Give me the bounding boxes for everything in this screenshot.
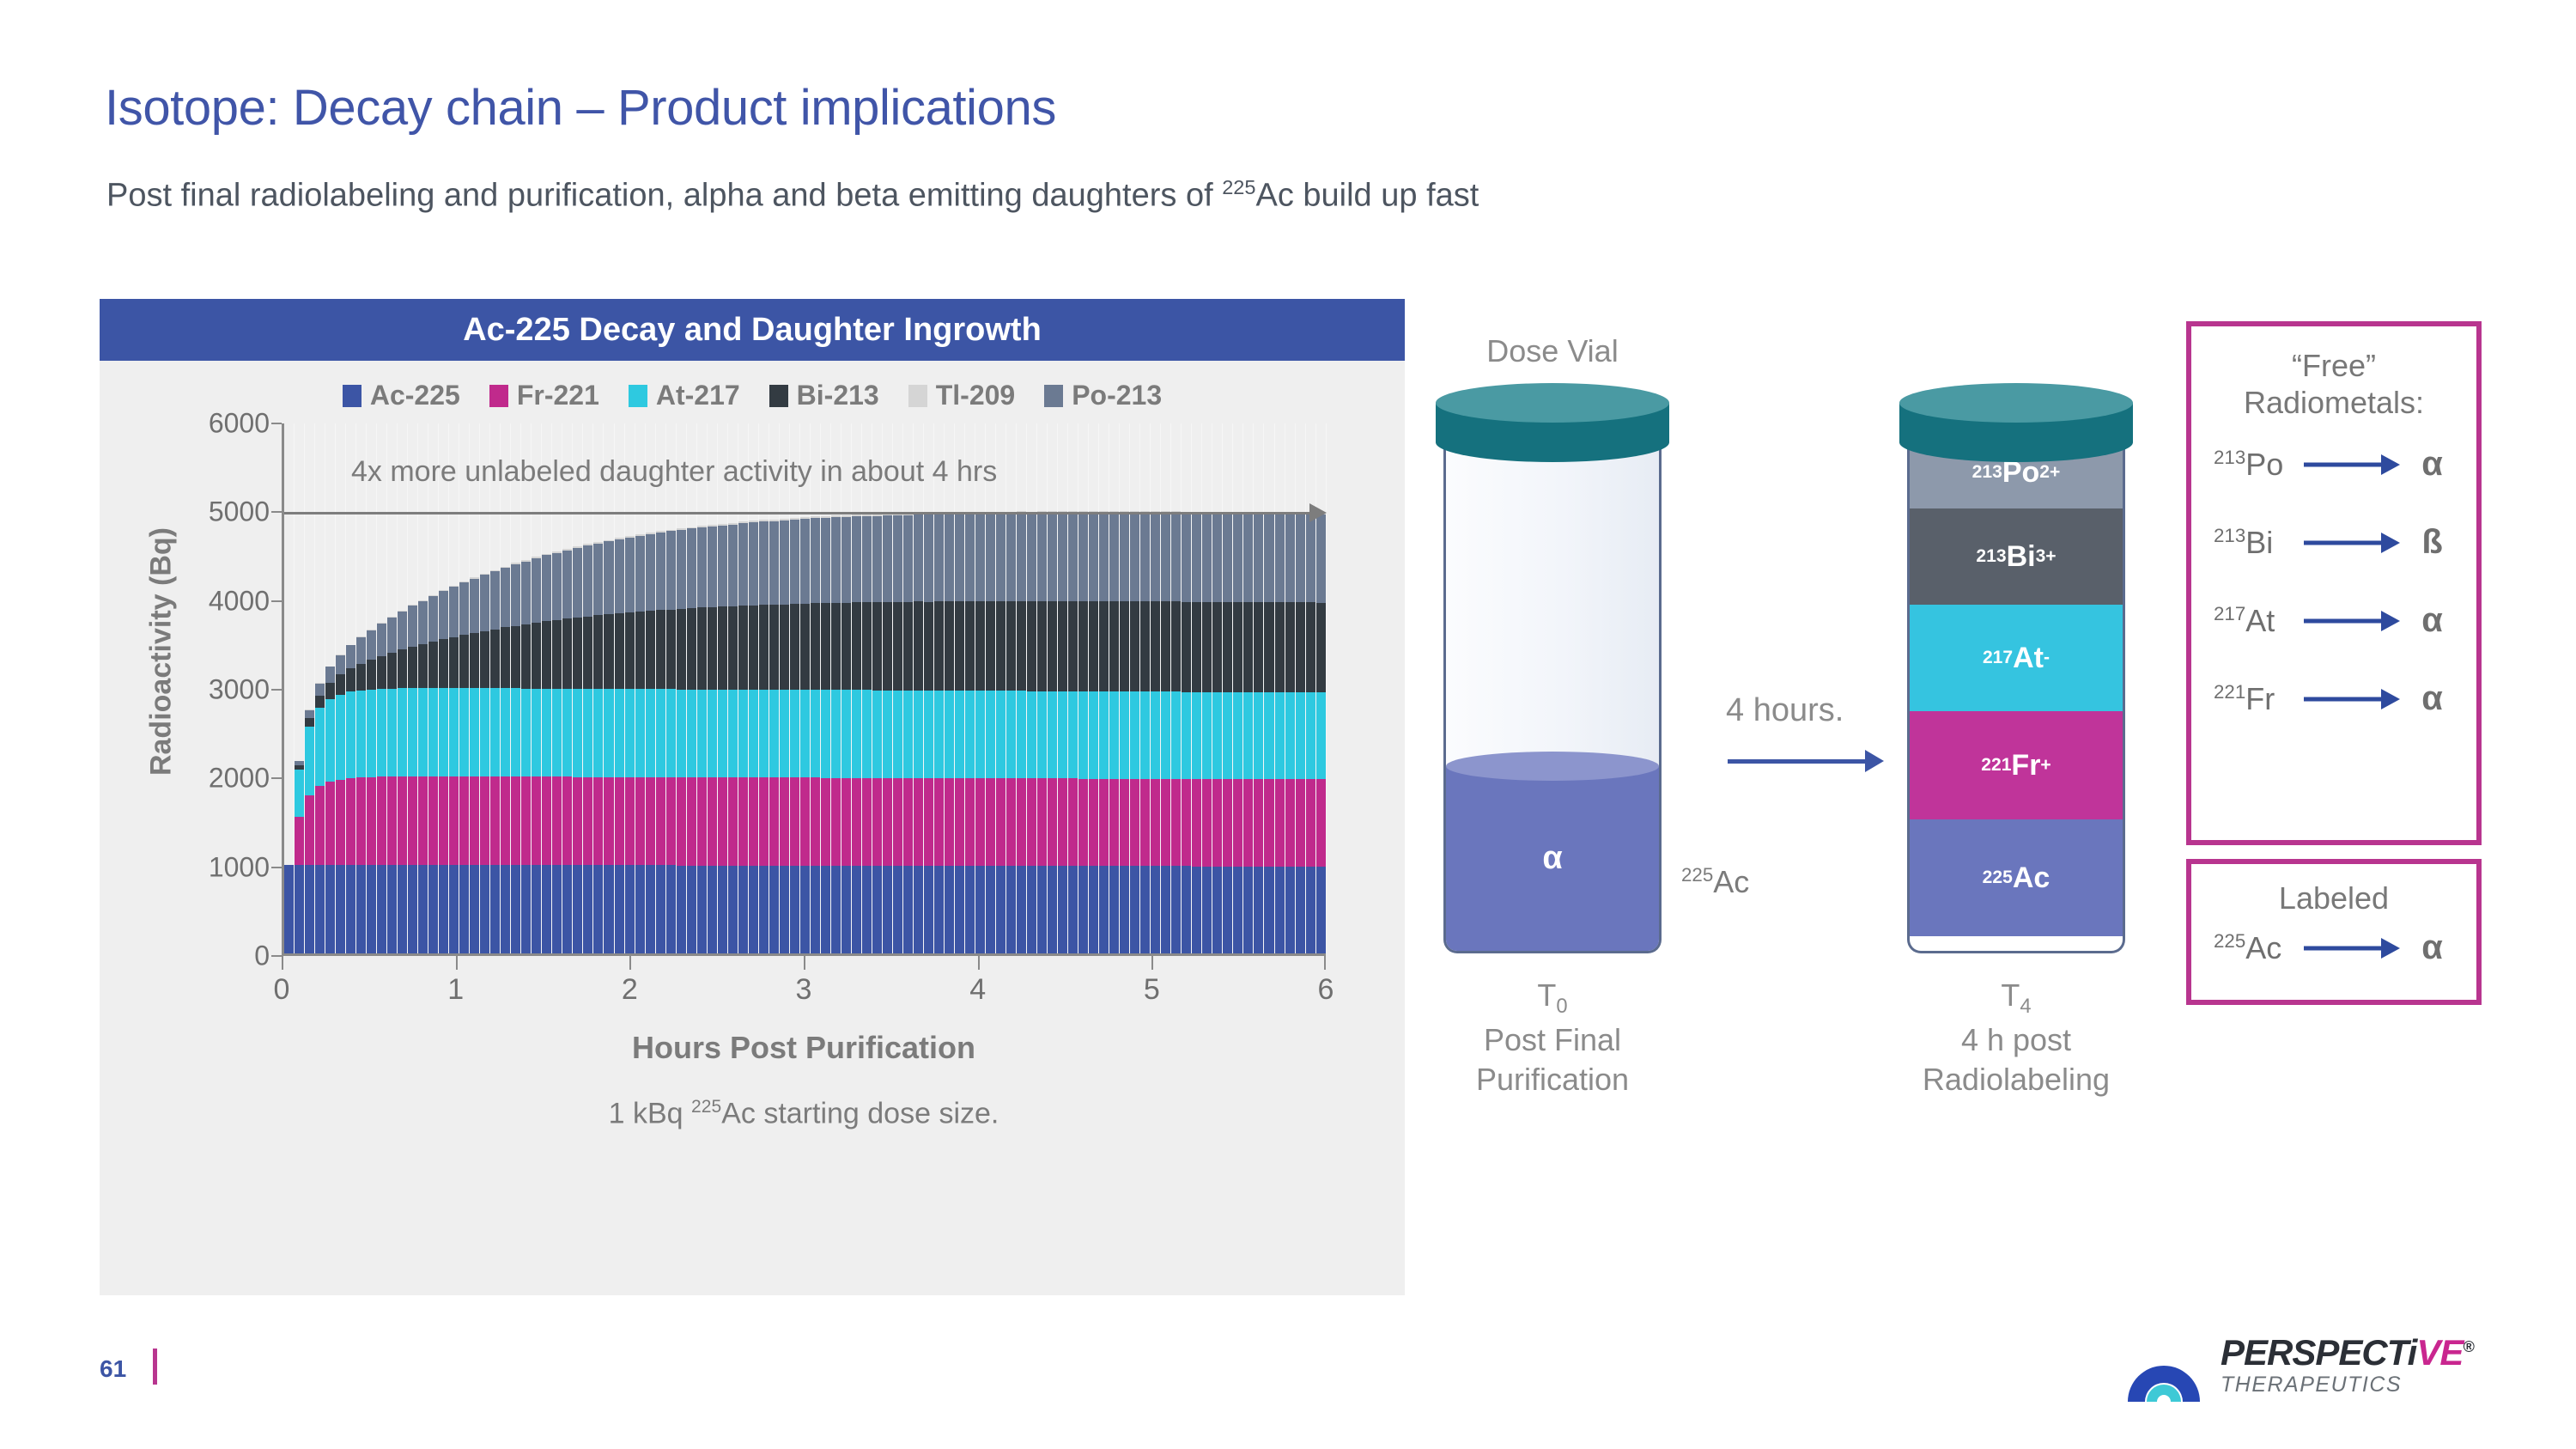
bar-segment-ac-225 (1099, 866, 1109, 953)
bar-segment-fr-221 (821, 778, 830, 866)
bar-segment-at-217 (728, 690, 738, 777)
bar-column (1243, 423, 1254, 953)
bar-segment-po-213 (883, 515, 892, 602)
bar-column (1099, 423, 1109, 953)
bar-segment-bi-213 (656, 610, 665, 689)
bar-segment-bi-213 (377, 656, 386, 690)
stacked-bars (284, 423, 1326, 953)
bar-column (1202, 423, 1212, 953)
bar-segment-fr-221 (677, 777, 686, 866)
bar-segment-ac-225 (562, 865, 572, 953)
bar-segment-fr-221 (1078, 779, 1088, 867)
bar-column (1027, 423, 1037, 953)
bar-segment-po-213 (398, 612, 407, 649)
transition-arrow-line (1728, 759, 1867, 764)
bar-segment-ac-225 (1254, 867, 1263, 953)
plot-wrapper: Radioactivity (Bq) 010002000300040005000… (100, 423, 1405, 1008)
bar-segment-fr-221 (449, 776, 459, 865)
bar-segment-fr-221 (511, 776, 520, 865)
legend-label: Fr-221 (517, 380, 599, 411)
bar-segment-at-217 (439, 688, 448, 776)
vial-liquid-surface (1446, 752, 1659, 781)
legend-swatch-icon (343, 385, 361, 407)
vial-cap-top-ellipse (1436, 383, 1669, 423)
bar-segment-bi-213 (769, 605, 779, 690)
legend-label: Bi-213 (797, 380, 879, 411)
legend-swatch-icon (629, 385, 647, 407)
free-box-heading: “Free” Radiometals: (2214, 347, 2454, 421)
bar-segment-fr-221 (718, 777, 727, 865)
bar-segment-at-217 (511, 688, 520, 776)
bar-segment-fr-221 (965, 778, 975, 866)
bar-column (367, 423, 377, 953)
bar-segment-at-217 (1202, 692, 1212, 779)
vial-layered-body: 213Po2+213Bi3+217At-221Fr+225Ac (1907, 436, 2125, 953)
bar-column (646, 423, 656, 953)
bar-segment-bi-213 (1212, 602, 1222, 692)
bar-segment-fr-221 (666, 777, 676, 866)
bar-segment-bi-213 (346, 668, 355, 691)
bar-segment-bi-213 (738, 606, 748, 690)
bar-segment-bi-213 (1027, 601, 1036, 691)
logo-main-pre: PERSPECT (2221, 1332, 2408, 1373)
bar-segment-po-213 (1306, 514, 1315, 603)
bar-segment-fr-221 (615, 777, 624, 866)
bar-segment-ac-225 (1285, 867, 1295, 953)
bar-segment-fr-221 (934, 778, 944, 866)
bar-segment-at-217 (1275, 692, 1285, 779)
bar-column (986, 423, 996, 953)
bar-segment-po-213 (449, 587, 459, 636)
legend-item-ac-225[interactable]: Ac-225 (343, 380, 460, 411)
bar-column (914, 423, 924, 953)
bar-segment-ac-225 (852, 866, 861, 953)
bar-segment-po-213 (1233, 514, 1242, 602)
bar-column (708, 423, 718, 953)
bar-segment-po-213 (924, 514, 933, 601)
vial-t0-caption: T0 Post Final Purification (1449, 976, 1656, 1099)
bar-segment-ac-225 (1202, 867, 1212, 953)
bar-segment-po-213 (1316, 514, 1326, 603)
bar-segment-bi-213 (1182, 602, 1191, 692)
legend-item-tl-209[interactable]: Tl-209 (908, 380, 1015, 411)
t0-line3: Purification (1449, 1060, 1656, 1099)
bar-column (800, 423, 811, 953)
bar-segment-ac-225 (1151, 866, 1160, 953)
bar-segment-fr-221 (790, 777, 799, 865)
bar-segment-fr-221 (356, 777, 366, 865)
bar-segment-at-217 (1306, 692, 1315, 779)
bar-segment-fr-221 (1223, 779, 1232, 866)
bar-column (1089, 423, 1099, 953)
decay-element-symbol: Fr (2245, 681, 2275, 716)
decay-arrow-icon (2304, 453, 2388, 477)
bar-segment-at-217 (790, 690, 799, 777)
bar-segment-ac-225 (593, 865, 603, 953)
ac225-symbol: Ac (1713, 864, 1749, 899)
bar-segment-bi-213 (1202, 602, 1212, 692)
bar-segment-bi-213 (1254, 602, 1263, 692)
decay-element-symbol: At (2245, 603, 2275, 638)
bar-segment-bi-213 (790, 604, 799, 690)
bar-segment-po-213 (1223, 514, 1232, 602)
bar-segment-ac-225 (418, 865, 428, 953)
bar-segment-fr-221 (315, 786, 325, 864)
bar-segment-at-217 (687, 690, 696, 778)
bar-column (769, 423, 780, 953)
free-box-heading-line1: “Free” (2214, 347, 2454, 384)
bar-column (1058, 423, 1068, 953)
bar-segment-po-213 (501, 568, 510, 628)
bar-segment-bi-213 (532, 623, 541, 689)
bar-segment-fr-221 (646, 777, 655, 866)
bar-segment-bi-213 (428, 642, 438, 688)
x-tick-mark (804, 956, 805, 970)
bar-segment-bi-213 (1151, 601, 1160, 691)
bar-segment-po-213 (490, 571, 500, 630)
bar-segment-fr-221 (346, 778, 355, 865)
bar-segment-at-217 (562, 689, 572, 777)
bar-segment-po-213 (1109, 513, 1119, 601)
bar-segment-ac-225 (459, 865, 469, 953)
bar-segment-ac-225 (501, 865, 510, 953)
bar-column (521, 423, 532, 953)
chart-footnote: 1 kBq 225Ac starting dose size. (282, 1097, 1326, 1130)
bar-segment-po-213 (852, 516, 861, 602)
subtitle-text-pre: Post final radiolabeling and purificatio… (106, 178, 1222, 214)
bar-segment-po-213 (1171, 514, 1181, 602)
bar-segment-fr-221 (542, 776, 551, 865)
bar-segment-fr-221 (408, 776, 417, 865)
bar-column (490, 423, 501, 953)
bar-segment-ac-225 (1212, 867, 1222, 953)
bar-segment-po-213 (480, 575, 489, 630)
bar-column (470, 423, 480, 953)
free-box-rows: 213Poα213Biß217Atα221Frα (2214, 445, 2454, 718)
bar-segment-at-217 (841, 690, 851, 777)
bar-segment-ac-225 (377, 865, 386, 953)
bar-column (862, 423, 872, 953)
bar-segment-po-213 (1006, 514, 1016, 601)
bar-segment-at-217 (542, 689, 551, 777)
bar-segment-at-217 (490, 688, 500, 776)
bar-column (562, 423, 573, 953)
bar-segment-bi-213 (490, 630, 500, 689)
bar-segment-ac-225 (1306, 867, 1315, 953)
bar-segment-po-213 (315, 684, 325, 696)
bar-column (1006, 423, 1017, 953)
bar-segment-ac-225 (1316, 867, 1326, 953)
bar-segment-at-217 (1109, 691, 1119, 779)
bar-segment-fr-221 (305, 795, 314, 865)
bar-segment-fr-221 (593, 777, 603, 866)
legend-swatch-icon (769, 385, 788, 407)
x-tick-mark (456, 956, 458, 970)
bar-column (1285, 423, 1296, 953)
bar-segment-fr-221 (1285, 779, 1295, 866)
bar-segment-at-217 (1233, 692, 1242, 779)
bar-segment-ac-225 (975, 866, 985, 953)
bar-segment-bi-213 (1017, 601, 1026, 691)
bar-segment-po-213 (408, 606, 417, 646)
bar-segment-bi-213 (336, 674, 345, 694)
bar-segment-at-217 (914, 691, 923, 778)
x-tick-mark (978, 956, 980, 970)
bar-column (356, 423, 367, 953)
bar-column (811, 423, 821, 953)
bar-segment-po-213 (1202, 514, 1212, 602)
bar-segment-fr-221 (295, 817, 304, 865)
bar-segment-po-213 (646, 534, 655, 611)
x-axis-title: Hours Post Purification (282, 1030, 1326, 1066)
plot-area: 4x more unlabeled daughter activity in a… (282, 423, 1326, 956)
bar-segment-at-217 (1140, 691, 1150, 779)
bar-segment-ac-225 (1275, 867, 1285, 953)
bar-segment-at-217 (697, 690, 707, 778)
bar-segment-fr-221 (1140, 779, 1150, 867)
bar-segment-ac-225 (759, 866, 769, 953)
vial-layer-fr: 221Fr+ (1910, 711, 2123, 819)
subtitle-superscript: 225 (1222, 176, 1255, 198)
bar-column (1078, 423, 1089, 953)
bar-segment-ac-225 (625, 865, 635, 953)
bar-segment-at-217 (1285, 692, 1295, 779)
bar-segment-bi-213 (800, 604, 810, 690)
bar-segment-fr-221 (1254, 779, 1263, 866)
bar-segment-po-213 (1296, 514, 1305, 603)
bar-column (1151, 423, 1161, 953)
bar-segment-po-213 (945, 514, 954, 602)
bar-segment-po-213 (914, 514, 923, 601)
bar-segment-at-217 (955, 691, 964, 778)
bar-segment-ac-225 (604, 865, 613, 953)
bar-segment-bi-213 (924, 602, 933, 691)
bar-segment-ac-225 (1037, 866, 1047, 953)
bar-segment-bi-213 (955, 601, 964, 691)
bar-segment-po-213 (738, 523, 748, 606)
t4-subscript: 4 (2020, 995, 2031, 1018)
bar-segment-po-213 (821, 518, 830, 603)
y-tick-label: 1000 (209, 851, 270, 883)
bar-segment-ac-225 (893, 866, 902, 953)
bar-segment-at-217 (852, 690, 861, 777)
free-radiometals-box: “Free” Radiometals: 213Poα213Biß217Atα22… (2186, 321, 2482, 845)
bar-segment-fr-221 (862, 778, 872, 866)
bar-segment-ac-225 (552, 865, 562, 953)
bar-segment-bi-213 (708, 607, 717, 690)
bar-segment-ac-225 (986, 866, 995, 953)
company-logo: PERSPECTiVE® THERAPEUTICS (2123, 1328, 2474, 1405)
bar-segment-fr-221 (1316, 779, 1326, 866)
bar-segment-fr-221 (470, 776, 479, 865)
bar-segment-po-213 (728, 525, 738, 606)
bar-segment-fr-221 (1037, 778, 1047, 866)
bar-segment-ac-225 (728, 866, 738, 953)
legend-swatch-icon (1044, 385, 1063, 407)
bar-segment-po-213 (1182, 514, 1191, 602)
bar-segment-bi-213 (1068, 601, 1078, 691)
bar-column (1182, 423, 1192, 953)
bar-segment-po-213 (1099, 514, 1109, 602)
bar-segment-bi-213 (1316, 603, 1326, 693)
bar-segment-fr-221 (955, 778, 964, 866)
bar-segment-po-213 (439, 591, 448, 639)
bar-segment-po-213 (1285, 514, 1295, 603)
vial-layer-ac: 225Ac (1910, 819, 2123, 936)
bar-segment-fr-221 (708, 777, 717, 865)
bar-column (428, 423, 439, 953)
bar-segment-po-213 (831, 517, 841, 603)
bar-segment-bi-213 (666, 610, 676, 690)
bar-column (625, 423, 635, 953)
legend-item-po-213[interactable]: Po-213 (1044, 380, 1162, 411)
bar-segment-ac-225 (615, 865, 624, 953)
bar-segment-ac-225 (811, 866, 820, 953)
bar-segment-at-217 (1017, 691, 1026, 778)
bar-segment-bi-213 (562, 618, 572, 688)
decay-arrow-head (2381, 533, 2400, 553)
logo-main-ve: VE (2416, 1332, 2463, 1373)
bar-segment-fr-221 (728, 777, 738, 865)
bar-segment-ac-225 (1161, 866, 1170, 953)
bar-segment-fr-221 (883, 778, 892, 866)
bar-segment-ac-225 (439, 865, 448, 953)
bar-segment-at-217 (800, 690, 810, 777)
page-title: Isotope: Decay chain – Product implicati… (105, 79, 1056, 137)
bar-segment-ac-225 (532, 865, 541, 953)
x-tick-mark (282, 956, 283, 970)
bar-segment-bi-213 (862, 602, 872, 690)
bar-segment-fr-221 (759, 777, 769, 865)
bar-segment-at-217 (367, 690, 376, 777)
bar-segment-ac-225 (1264, 867, 1273, 953)
bar-segment-fr-221 (583, 777, 592, 866)
bar-column (924, 423, 934, 953)
decay-element-symbol: Ac (2245, 930, 2281, 965)
t4-label: T4 (1913, 976, 2119, 1020)
bar-segment-po-213 (811, 518, 820, 603)
decay-element-symbol: Po (2245, 447, 2283, 482)
bar-column (1171, 423, 1182, 953)
bar-segment-bi-213 (945, 601, 954, 691)
bar-segment-fr-221 (852, 778, 861, 866)
decay-emission-type: α (2410, 679, 2454, 718)
decay-arrow-head (2381, 454, 2400, 475)
y-tick-mark (271, 955, 282, 957)
bar-segment-ac-225 (965, 866, 975, 953)
bar-segment-bi-213 (1243, 602, 1253, 692)
bar-column (821, 423, 831, 953)
bar-segment-fr-221 (325, 782, 335, 865)
bar-segment-at-217 (1161, 691, 1170, 779)
bar-segment-fr-221 (552, 776, 562, 865)
layer-mass-number: 225 (1983, 868, 2013, 888)
bar-segment-bi-213 (677, 609, 686, 690)
bar-segment-ac-225 (666, 865, 676, 953)
bar-column (284, 423, 295, 953)
bar-segment-bi-213 (604, 614, 613, 689)
layer-mass-number: 221 (1981, 755, 2011, 776)
bar-segment-fr-221 (945, 778, 954, 866)
legend-item-bi-213[interactable]: Bi-213 (769, 380, 879, 411)
legend-swatch-icon (489, 385, 508, 407)
bar-segment-bi-213 (831, 603, 841, 690)
bar-segment-po-213 (1017, 514, 1026, 601)
bar-segment-at-217 (738, 690, 748, 777)
bar-segment-bi-213 (821, 603, 830, 690)
decay-arrow-line (2304, 697, 2383, 701)
bar-segment-ac-225 (1223, 867, 1232, 953)
x-tick-label: 1 (447, 973, 464, 1007)
bar-segment-bi-213 (470, 633, 479, 688)
page-number: 61 (100, 1355, 126, 1383)
bar-segment-bi-213 (1120, 601, 1129, 691)
decay-nuclide-label: 225Ac (2214, 930, 2304, 966)
bar-segment-fr-221 (1212, 779, 1222, 866)
bar-segment-ac-225 (821, 866, 830, 953)
bar-segment-fr-221 (501, 776, 510, 865)
bar-segment-at-217 (356, 691, 366, 777)
bar-segment-ac-225 (708, 866, 717, 954)
bar-column (305, 423, 315, 953)
y-axis-title: Radioactivity (Bq) (145, 472, 179, 832)
bar-segment-fr-221 (914, 778, 923, 866)
bar-segment-bi-213 (893, 602, 902, 691)
decay-arrow-line (2304, 540, 2383, 545)
chart-title-bar: Ac-225 Decay and Daughter Ingrowth (100, 299, 1405, 361)
bar-segment-po-213 (377, 624, 386, 656)
decay-arrow-head (2381, 938, 2400, 959)
bar-segment-ac-225 (408, 865, 417, 953)
bar-column (408, 423, 418, 953)
bar-segment-po-213 (604, 541, 613, 614)
bar-segment-at-217 (470, 688, 479, 776)
bar-segment-bi-213 (811, 603, 820, 690)
bar-segment-ac-225 (841, 866, 851, 953)
bar-segment-ac-225 (697, 866, 707, 954)
bar-segment-at-217 (872, 691, 882, 778)
bar-segment-at-217 (1243, 692, 1253, 779)
bar-segment-ac-225 (336, 865, 345, 953)
bar-segment-at-217 (625, 689, 635, 777)
legend-label: At-217 (656, 380, 740, 411)
bar-column (1048, 423, 1058, 953)
bar-segment-bi-213 (449, 637, 459, 689)
bar-segment-ac-225 (872, 866, 882, 953)
bar-segment-fr-221 (1027, 778, 1036, 866)
bar-segment-bi-213 (1048, 601, 1057, 691)
bar-segment-fr-221 (1151, 779, 1160, 867)
bar-segment-ac-225 (635, 865, 645, 953)
legend-item-at-217[interactable]: At-217 (629, 380, 740, 411)
bar-segment-po-213 (1243, 514, 1253, 602)
bar-segment-po-213 (325, 667, 335, 682)
bar-segment-at-217 (449, 688, 459, 776)
bar-segment-po-213 (862, 516, 872, 602)
bar-segment-at-217 (965, 691, 975, 778)
bar-column (903, 423, 914, 953)
bar-segment-po-213 (459, 582, 469, 635)
bar-segment-bi-213 (1058, 601, 1067, 691)
bar-column (377, 423, 387, 953)
bar-segment-fr-221 (459, 776, 469, 865)
bar-column (604, 423, 614, 953)
bar-column (439, 423, 449, 953)
bar-segment-po-213 (841, 517, 851, 603)
t0-letter: T (1537, 977, 1556, 1013)
bar-segment-fr-221 (635, 777, 645, 866)
legend-item-fr-221[interactable]: Fr-221 (489, 380, 599, 411)
